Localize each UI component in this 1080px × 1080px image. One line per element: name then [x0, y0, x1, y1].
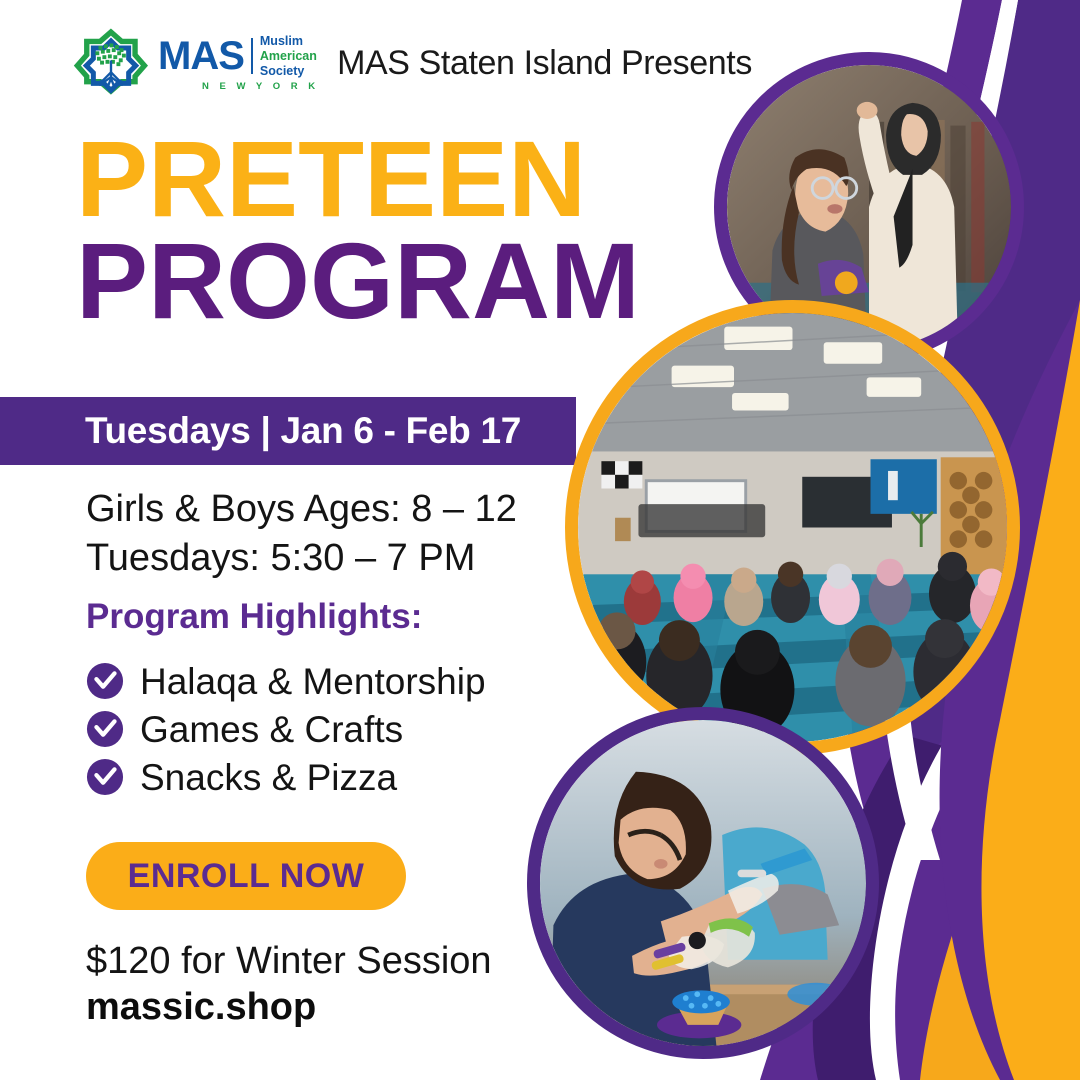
logo-acronym: MAS	[158, 36, 244, 76]
header: MAS Muslim American Society N E W Y O R …	[72, 24, 752, 102]
logo-chapter-newyork: N E W Y O R K	[158, 82, 319, 92]
date-banner: Tuesdays | Jan 6 - Feb 17	[0, 397, 576, 465]
flyer-canvas: MAS Muslim American Society N E W Y O R …	[0, 0, 1080, 1080]
list-item-label: Games & Crafts	[140, 711, 403, 748]
list-item-label: Halaqa & Mentorship	[140, 663, 486, 700]
logo-word-american: American	[260, 49, 317, 64]
enroll-now-button[interactable]: ENROLL NOW	[86, 842, 406, 910]
mas-logo: MAS Muslim American Society N E W Y O R …	[72, 24, 319, 102]
detail-time: Tuesdays: 5:30 – 7 PM	[86, 534, 517, 583]
logo-word-society: Society	[260, 64, 317, 79]
enroll-now-label: ENROLL NOW	[128, 857, 365, 896]
list-item: Games & Crafts	[86, 710, 486, 748]
mas-logo-type: MAS Muslim American Society N E W Y O R …	[158, 34, 319, 92]
detail-ages: Girls & Boys Ages: 8 – 12	[86, 485, 517, 534]
check-circle-icon	[86, 710, 124, 748]
logo-divider-rule	[251, 38, 253, 74]
photo-group-circle-halaqa	[565, 300, 1020, 755]
mas-tree-octagram-icon	[72, 24, 150, 102]
highlights-list: Halaqa & Mentorship Games & Crafts Snack…	[86, 662, 486, 806]
list-item: Halaqa & Mentorship	[86, 662, 486, 700]
check-circle-icon	[86, 662, 124, 700]
program-title: PRETEEN PROGRAM	[76, 128, 640, 331]
list-item-label: Snacks & Pizza	[140, 759, 397, 796]
list-item: Snacks & Pizza	[86, 758, 486, 796]
price-text: $120 for Winter Session	[86, 938, 492, 984]
photo-boy-decorating-cupcake	[527, 707, 879, 1059]
website-text[interactable]: massic.shop	[86, 984, 492, 1030]
photo-illustration-halaqa-circle	[578, 313, 1007, 742]
highlights-heading: Program Highlights:	[86, 597, 422, 637]
title-line-program: PROGRAM	[76, 230, 640, 332]
program-details: Girls & Boys Ages: 8 – 12 Tuesdays: 5:30…	[86, 485, 517, 582]
footer: $120 for Winter Session massic.shop	[86, 938, 492, 1031]
ribbon-gold-top	[981, 300, 1080, 1080]
date-banner-text: Tuesdays | Jan 6 - Feb 17	[55, 410, 521, 452]
check-circle-icon	[86, 758, 124, 796]
logo-word-muslim: Muslim	[260, 34, 317, 49]
ribbon-white-gap	[870, 735, 980, 1080]
title-line-preteen: PRETEEN	[76, 128, 640, 230]
photo-illustration-cupcake-craft	[540, 720, 866, 1046]
presents-headline: MAS Staten Island Presents	[337, 44, 752, 83]
